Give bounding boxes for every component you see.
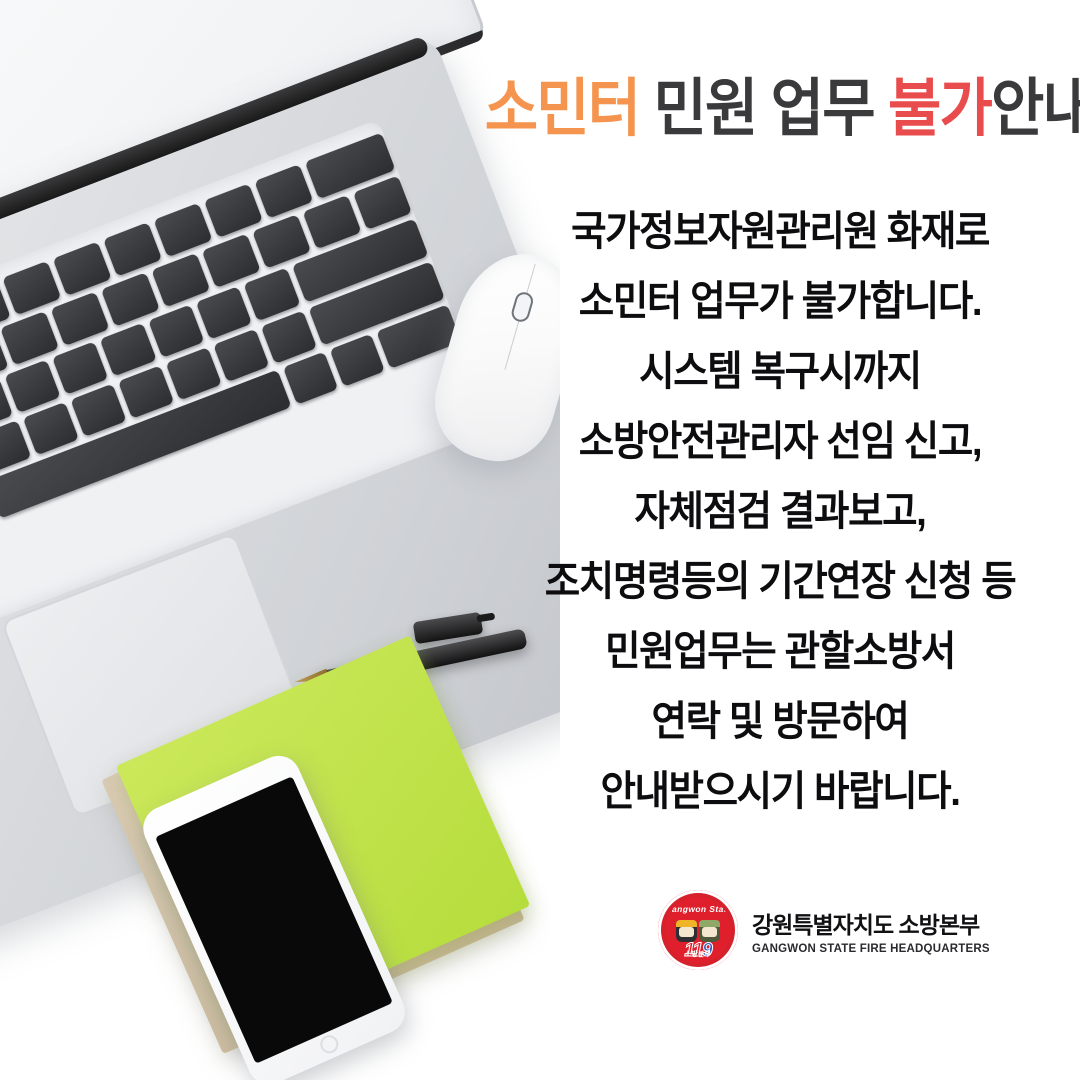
notice-body: 국가정보자원관리원 화재로 소민터 업무가 불가합니다. 시스템 복구시까지 소… [480, 196, 1080, 826]
desk-flatlay-photo [0, 0, 560, 1080]
notice-line: 국가정보자원관리원 화재로 [498, 196, 1062, 266]
notice-line: 자체점검 결과보고, [498, 476, 1062, 546]
organization-logo: Gangwon State 119 소방본부 강원특별자치도 소방본부 GANG… [658, 890, 990, 970]
notice-line: 시스템 복구시까지 [498, 336, 1062, 406]
page-title: 소민터 민원 업무 불가안내 [485, 78, 1055, 141]
emblem-bottom-text: 소방본부 [665, 949, 731, 959]
poster-canvas: 소민터 민원 업무 불가안내 국가정보자원관리원 화재로 소민터 업무가 불가합… [0, 0, 1080, 1080]
emblem-inner-disc: Gangwon State 119 소방본부 [665, 897, 731, 963]
notice-line: 소민터 업무가 불가합니다. [498, 266, 1062, 336]
notice-line: 연락 및 방문하여 [498, 686, 1062, 756]
mascot-firefighter-icon [676, 920, 697, 942]
content-column: 소민터 민원 업무 불가안내 국가정보자원관리원 화재로 소민터 업무가 불가합… [540, 0, 1080, 1080]
logo-name-korean: 강원특별자치도 소방본부 [752, 906, 990, 940]
mascot-rescuer-icon [699, 920, 720, 942]
title-segment-civil-service: 민원 업무 [654, 74, 874, 144]
fire-department-emblem-icon: Gangwon State 119 소방본부 [658, 890, 738, 970]
logo-name-english: GANGWON STATE FIRE HEADQUARTERS [752, 943, 990, 955]
phone-home-button [317, 1032, 341, 1056]
notice-line: 조치명령등의 기간연장 신청 등 [498, 546, 1062, 616]
title-segment-sominter: 소민터 [485, 74, 639, 144]
emblem-arc-text: Gangwon State [665, 904, 731, 914]
notice-line: 소방안전관리자 선임 신고, [498, 406, 1062, 476]
emblem-mascot-characters [676, 920, 720, 942]
logo-wordmark: 강원특별자치도 소방본부 GANGWON STATE FIRE HEADQUAR… [752, 906, 990, 955]
notice-line: 민원업무는 관할소방서 [498, 616, 1062, 686]
notice-line: 안내받으시기 바랍니다. [498, 756, 1062, 826]
title-segment-notice: 안내 [991, 74, 1080, 144]
title-segment-unavailable: 불가 [888, 74, 991, 144]
